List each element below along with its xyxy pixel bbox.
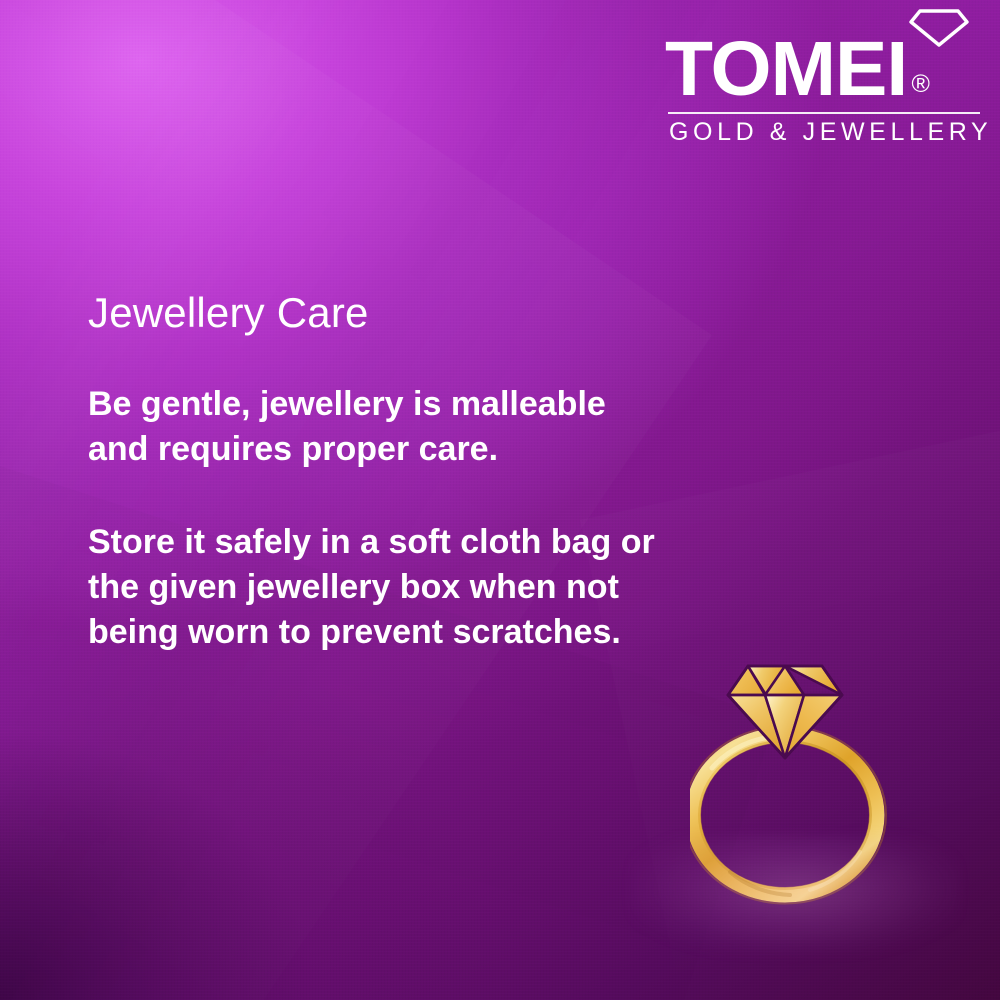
- registered-trademark-icon: ®: [911, 72, 929, 97]
- care-paragraph-2: Store it safely in a soft cloth bag or t…: [88, 520, 668, 655]
- logo-tagline: GOLD & JEWELLERY: [669, 118, 981, 147]
- page-title: Jewellery Care: [88, 290, 668, 336]
- ring-glow: [630, 835, 960, 955]
- poster-canvas: TOMEI ® GOLD & JEWELLERY Jewellery Care …: [0, 0, 1000, 1000]
- diamond-ring-illustration: [690, 640, 900, 940]
- care-paragraph-1: Be gentle, jewellery is malleable and re…: [88, 382, 668, 472]
- logo-wordmark: TOMEI ®: [665, 32, 930, 107]
- care-copy-block: Jewellery Care Be gentle, jewellery is m…: [88, 290, 668, 655]
- logo-word-tomei: TOMEI: [665, 32, 907, 107]
- logo-divider-rule: [668, 112, 980, 114]
